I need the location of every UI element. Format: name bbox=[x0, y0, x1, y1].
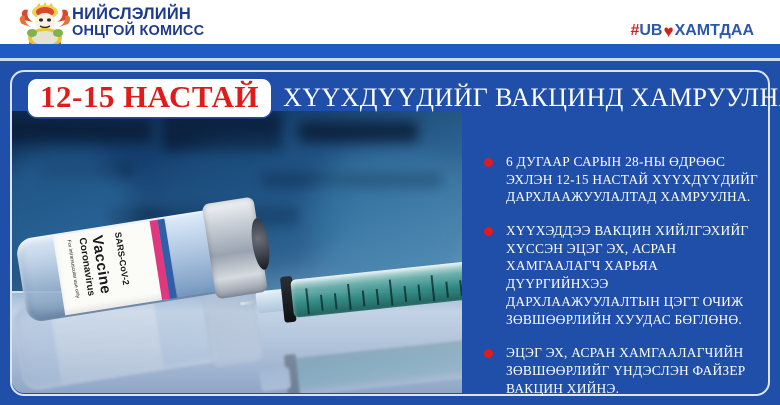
title-highlight-text: 12-15 НАСТАЙ bbox=[40, 79, 259, 114]
bullet-dot-icon bbox=[484, 349, 493, 358]
poster-header: НИЙСЛЭЛИЙН ОНЦГОЙ КОМИСС #UB♥ХАМТДАА bbox=[0, 0, 780, 44]
poster-title: 12-15 НАСТАЙ ХҮҮХДҮҮДИЙГ ВАКЦИНД ХАМРУУЛ… bbox=[0, 75, 780, 121]
list-item: ХҮҮХЭДДЭЭ ВАКЦИН ХИЙЛГЭХИЙГ ХҮССЭН ЭЦЭГ … bbox=[484, 222, 760, 328]
org-line-2: ОНЦГОЙ КОМИСС bbox=[72, 24, 204, 39]
bullet-text-2: ХҮҮХЭДДЭЭ ВАКЦИН ХИЙЛГЭХИЙГ ХҮССЭН ЭЦЭГ … bbox=[506, 222, 760, 328]
organization-name: НИЙСЛЭЛИЙН ОНЦГОЙ КОМИСС bbox=[72, 6, 204, 38]
list-item: ЭЦЭГ ЭХ, АСРАН ХАМГААЛАГЧИЙН ЗӨВШӨӨРЛИЙГ… bbox=[484, 344, 760, 397]
vial-label-text: For intramuscular use only Coronavirus V… bbox=[65, 225, 152, 312]
poster-root: НИЙСЛЭЛИЙН ОНЦГОЙ КОМИСС #UB♥ХАМТДАА 12-… bbox=[0, 0, 780, 405]
bullet-dot-icon bbox=[484, 227, 493, 236]
bullet-text-1: 6 ДУГААР САРЫН 28-НЫ ӨДРӨӨС ЭХЛЭН 12-15 … bbox=[506, 153, 760, 206]
vial-label-sars: SARS-CoV-2 bbox=[113, 231, 131, 285]
bullet-text-3: ЭЦЭГ ЭХ, АСРАН ХАМГААЛАГЧИЙН ЗӨВШӨӨРЛИЙГ… bbox=[506, 344, 760, 397]
heart-icon: ♥ bbox=[663, 23, 673, 40]
main-blue-panel: 12-15 НАСТАЙ ХҮҮХДҮҮДИЙГ ВАКЦИНД ХАМРУУЛ… bbox=[0, 61, 780, 405]
hash-symbol: # bbox=[630, 22, 639, 40]
hashtag-word: ХАМТДАА bbox=[675, 22, 754, 40]
bullet-dot-icon bbox=[484, 158, 493, 167]
vaccine-photo: For intramuscular use only Coronavirus V… bbox=[12, 111, 462, 393]
hashtag-ub: UB bbox=[639, 22, 662, 40]
title-highlight-pill: 12-15 НАСТАЙ bbox=[28, 79, 271, 118]
org-line-1: НИЙСЛЭЛИЙН bbox=[72, 6, 204, 23]
campaign-hashtag: #UB♥ХАМТДАА bbox=[630, 22, 754, 40]
header-blue-band bbox=[0, 44, 780, 58]
bullet-list: 6 ДУГААР САРЫН 28-НЫ ӨДРӨӨС ЭХЛЭН 12-15 … bbox=[484, 153, 760, 405]
list-item: 6 ДУГААР САРЫН 28-НЫ ӨДРӨӨС ЭХЛЭН 12-15 … bbox=[484, 153, 760, 206]
title-rest-text: ХҮҮХДҮҮДИЙГ ВАКЦИНД ХАМРУУЛНА bbox=[283, 83, 780, 113]
